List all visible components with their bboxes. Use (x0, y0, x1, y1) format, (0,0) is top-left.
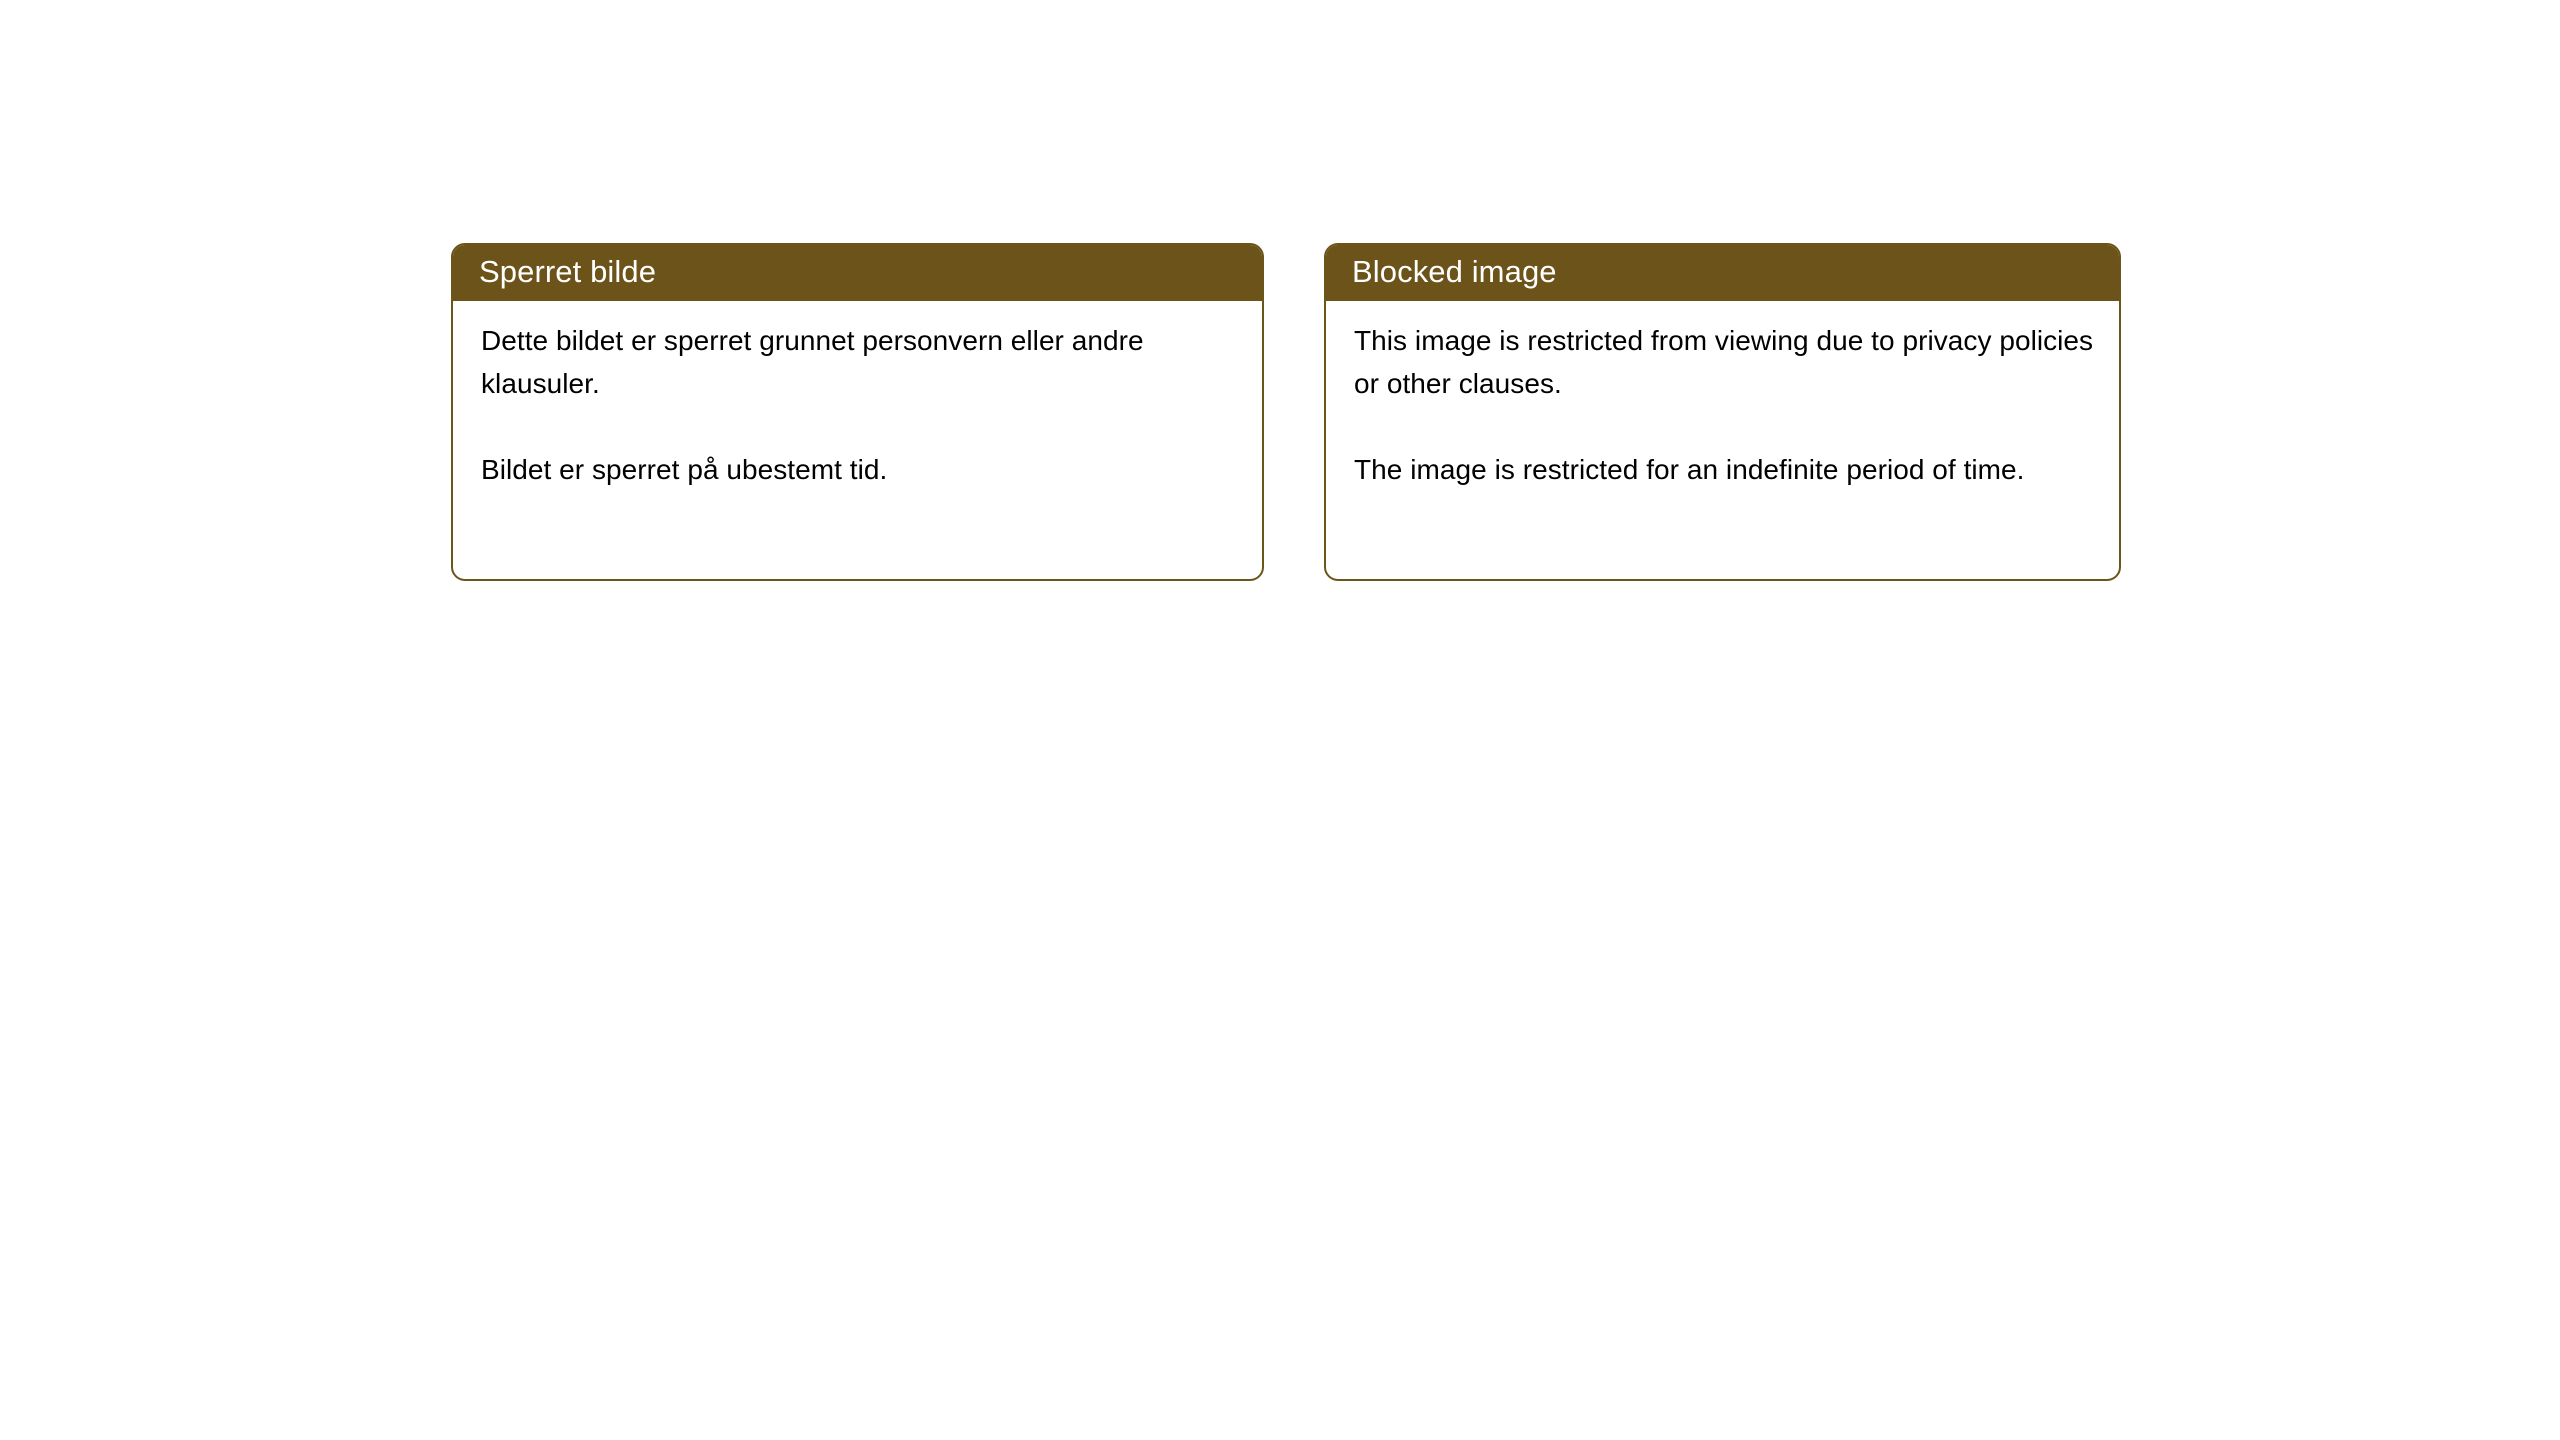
card-body-english: This image is restricted from viewing du… (1326, 301, 2119, 491)
blocked-image-notice-group: Sperret bilde Dette bildet er sperret gr… (451, 243, 2121, 581)
card-paragraph-norwegian-1: Dette bildet er sperret grunnet personve… (481, 319, 1238, 405)
card-body-norwegian: Dette bildet er sperret grunnet personve… (453, 301, 1262, 491)
card-paragraph-english-2: The image is restricted for an indefinit… (1354, 448, 2095, 491)
blocked-image-card-english: Blocked image This image is restricted f… (1324, 243, 2121, 581)
paragraph-spacer-english (1354, 405, 2095, 448)
blocked-image-card-norwegian: Sperret bilde Dette bildet er sperret gr… (451, 243, 1264, 581)
page-root: Sperret bilde Dette bildet er sperret gr… (0, 0, 2560, 1440)
card-title-norwegian: Sperret bilde (479, 254, 656, 290)
card-header-english: Blocked image (1324, 243, 2121, 301)
card-title-english: Blocked image (1352, 254, 1557, 290)
paragraph-spacer-norwegian (481, 405, 1238, 448)
card-paragraph-norwegian-2: Bildet er sperret på ubestemt tid. (481, 448, 1238, 491)
card-header-norwegian: Sperret bilde (451, 243, 1264, 301)
card-paragraph-english-1: This image is restricted from viewing du… (1354, 319, 2095, 405)
